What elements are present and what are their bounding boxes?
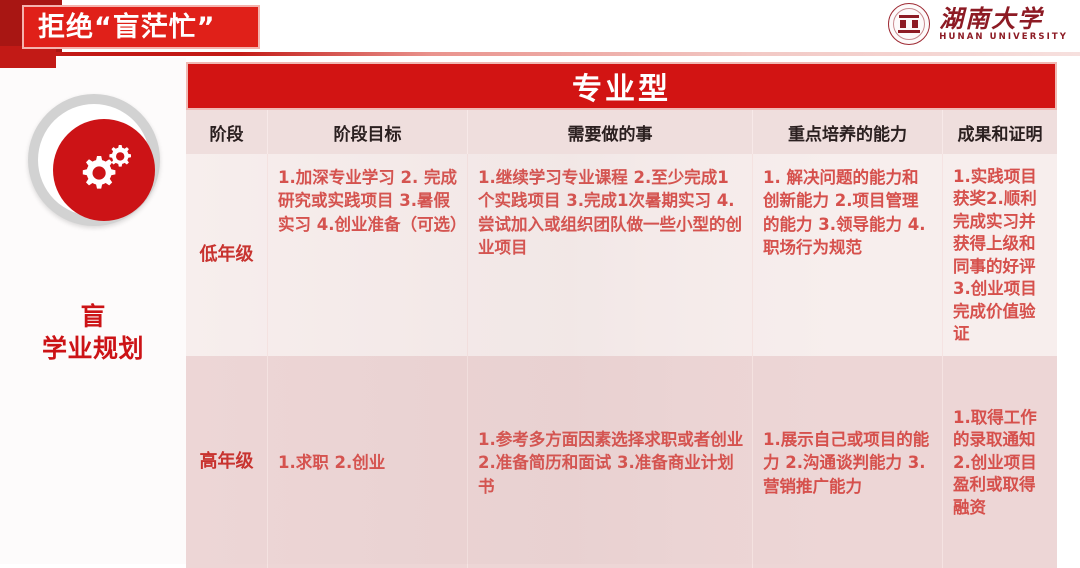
- table-header-row: 阶段 阶段目标 需要做的事 重点培养的能力 成果和证明: [186, 110, 1057, 154]
- cell-goals: 1.求职 2.创业: [268, 356, 468, 568]
- slide-title-banner: 拒绝“盲茫忙”: [22, 5, 260, 49]
- column-header-goals: 阶段目标: [268, 110, 468, 154]
- cell-outcomes: 1.实践项目获奖2.顺利完成实习并获得上级和同事的好评 3.创业项目完成价值验证: [943, 154, 1057, 356]
- column-header-outcomes: 成果和证明: [943, 110, 1057, 154]
- cell-todo: 1.继续学习专业课程 2.至少完成1个实践项目 3.完成1次暑期实习 4.尝试加…: [468, 154, 753, 356]
- gears-icon: [53, 119, 155, 221]
- cell-skills: 1.展示自己或项目的能力 2.沟通谈判能力 3.营销推广能力: [753, 356, 943, 568]
- column-header-todo: 需要做的事: [468, 110, 753, 154]
- plan-table: 专业型 阶段 阶段目标 需要做的事 重点培养的能力 成果和证明 低年级 1.加深…: [186, 62, 1057, 564]
- table-row: 低年级 1.加深专业学习 2. 完成研究或实践项目 3.暑假实习 4.创业准备（…: [186, 154, 1057, 356]
- title-divider: [0, 52, 1080, 56]
- cell-stage: 高年级: [186, 356, 268, 568]
- cell-skills: 1. 解决问题的能力和创新能力 2.项目管理的能力 3.领导能力 4.职场行为规…: [753, 154, 943, 356]
- sidebar-label-secondary: 学业规划: [0, 336, 186, 361]
- page-title: 拒绝“盲茫忙”: [24, 14, 216, 41]
- sidebar-badge: [28, 94, 160, 226]
- table-row: 高年级 1.求职 2.创业 1.参考多方面因素选择求职或者创业 2.准备简历和面…: [186, 356, 1057, 568]
- cell-stage: 低年级: [186, 154, 268, 356]
- cell-outcomes: 1.取得工作的录取通知 2.创业项目盈利或取得融资: [943, 356, 1057, 568]
- right-margin: [1057, 58, 1080, 564]
- university-name-cn: 湖南大学: [939, 6, 1068, 31]
- column-header-skills: 重点培养的能力: [753, 110, 943, 154]
- university-seal-icon: [888, 3, 930, 45]
- cell-goals: 1.加深专业学习 2. 完成研究或实践项目 3.暑假实习 4.创业准备（可选）: [268, 154, 468, 356]
- cell-todo: 1.参考多方面因素选择求职或者创业 2.准备简历和面试 3.准备商业计划书: [468, 356, 753, 568]
- decor-block-secondary: [0, 46, 56, 68]
- sidebar: 盲 学业规划: [0, 58, 186, 564]
- table-title: 专业型: [186, 62, 1057, 110]
- column-header-stage: 阶段: [186, 110, 268, 154]
- university-logo: 湖南大学 HUNAN UNIVERSITY: [888, 3, 1068, 45]
- sidebar-label-primary: 盲: [0, 304, 186, 329]
- university-name-en: HUNAN UNIVERSITY: [939, 32, 1068, 42]
